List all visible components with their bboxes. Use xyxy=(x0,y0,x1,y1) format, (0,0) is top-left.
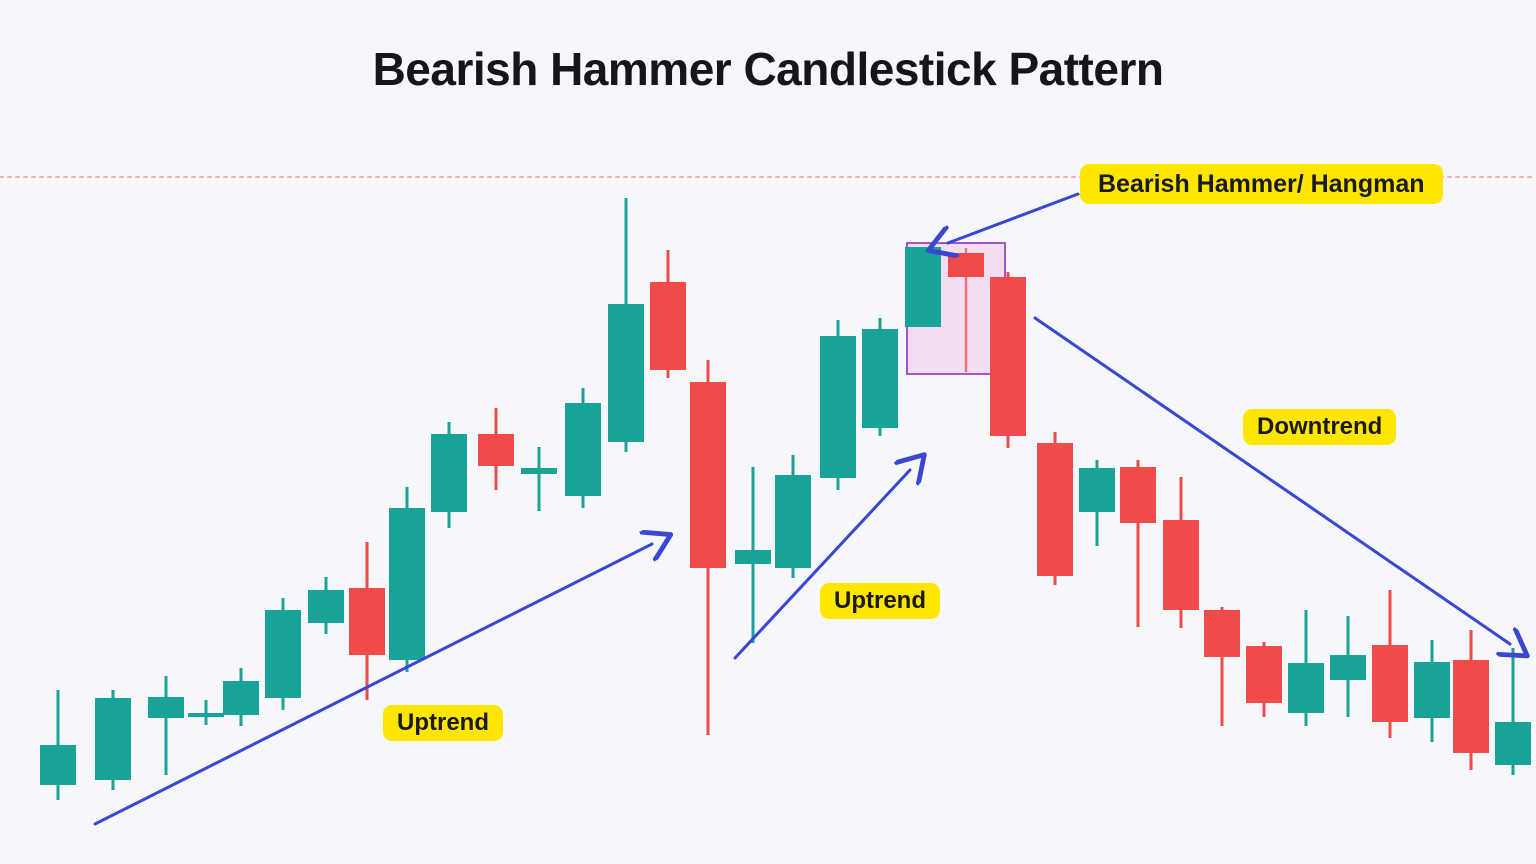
candle-body xyxy=(1120,467,1156,523)
candle-body xyxy=(148,697,184,718)
badge-uptrend-second[interactable]: Uptrend xyxy=(820,583,940,619)
candle-body xyxy=(431,434,467,512)
candle[interactable] xyxy=(820,320,856,490)
candle[interactable] xyxy=(188,700,224,725)
candle-body xyxy=(690,382,726,568)
candle-body xyxy=(1372,645,1408,722)
candles-group xyxy=(40,198,1531,800)
candle-body xyxy=(1037,443,1073,576)
candle[interactable] xyxy=(1079,460,1115,546)
candle[interactable] xyxy=(1120,460,1156,627)
candle-body xyxy=(349,588,385,655)
candle[interactable] xyxy=(521,447,557,511)
trend-arrow-hammer-pointer xyxy=(948,194,1078,243)
candle[interactable] xyxy=(1453,630,1489,770)
candle[interactable] xyxy=(862,318,898,436)
candle[interactable] xyxy=(1414,640,1450,742)
candle[interactable] xyxy=(1372,590,1408,738)
candle[interactable] xyxy=(95,690,131,790)
candle-body xyxy=(95,698,131,780)
candle[interactable] xyxy=(1246,642,1282,717)
candle[interactable] xyxy=(650,250,686,378)
candle[interactable] xyxy=(431,422,467,528)
candle-body xyxy=(1414,662,1450,718)
candle-body xyxy=(1204,610,1240,657)
candle[interactable] xyxy=(690,360,726,735)
candle-body xyxy=(1288,663,1324,713)
candle[interactable] xyxy=(223,668,259,726)
candle-body xyxy=(735,550,771,564)
candle-body xyxy=(565,403,601,496)
candle-body xyxy=(1495,722,1531,765)
candle[interactable] xyxy=(478,408,514,490)
candle[interactable] xyxy=(735,467,771,643)
candle-body xyxy=(1246,646,1282,703)
candle[interactable] xyxy=(1330,616,1366,717)
candle[interactable] xyxy=(308,577,344,634)
trend-arrow-uptrend-1 xyxy=(95,544,652,824)
candle-body xyxy=(188,713,224,717)
candle[interactable] xyxy=(608,198,644,452)
candle[interactable] xyxy=(1037,432,1073,585)
candle[interactable] xyxy=(775,455,811,578)
candle[interactable] xyxy=(40,690,76,800)
candle-body xyxy=(862,329,898,428)
candle-body xyxy=(1330,655,1366,680)
candle[interactable] xyxy=(565,388,601,508)
badge-downtrend[interactable]: Downtrend xyxy=(1243,409,1396,445)
candlestick-chart-page: Bearish Hammer Candlestick Pattern Beari… xyxy=(0,0,1536,864)
candle-body xyxy=(521,468,557,474)
candle[interactable] xyxy=(389,487,425,672)
candle-body xyxy=(990,277,1026,436)
candle[interactable] xyxy=(1288,610,1324,726)
candle[interactable] xyxy=(990,272,1026,448)
candle-body xyxy=(265,610,301,698)
candle[interactable] xyxy=(905,247,941,327)
candle[interactable] xyxy=(349,542,385,700)
candle-body xyxy=(308,590,344,623)
candle-body xyxy=(608,304,644,442)
candle-body xyxy=(40,745,76,785)
candle-body xyxy=(223,681,259,715)
candle[interactable] xyxy=(265,598,301,710)
candle-body xyxy=(1453,660,1489,753)
badge-uptrend-first[interactable]: Uptrend xyxy=(383,705,503,741)
candle-body xyxy=(905,247,941,327)
candle-body xyxy=(1079,468,1115,512)
candle-body xyxy=(775,475,811,568)
candle-body xyxy=(820,336,856,478)
candle[interactable] xyxy=(148,676,184,775)
candle-body xyxy=(1163,520,1199,610)
candle[interactable] xyxy=(1495,648,1531,775)
candle-body xyxy=(389,508,425,660)
candle-body xyxy=(478,434,514,466)
candle[interactable] xyxy=(1204,607,1240,726)
candle[interactable] xyxy=(1163,477,1199,628)
badge-bearish-hammer[interactable]: Bearish Hammer/ Hangman xyxy=(1080,164,1443,204)
candle-body xyxy=(948,253,984,277)
candle-body xyxy=(650,282,686,370)
